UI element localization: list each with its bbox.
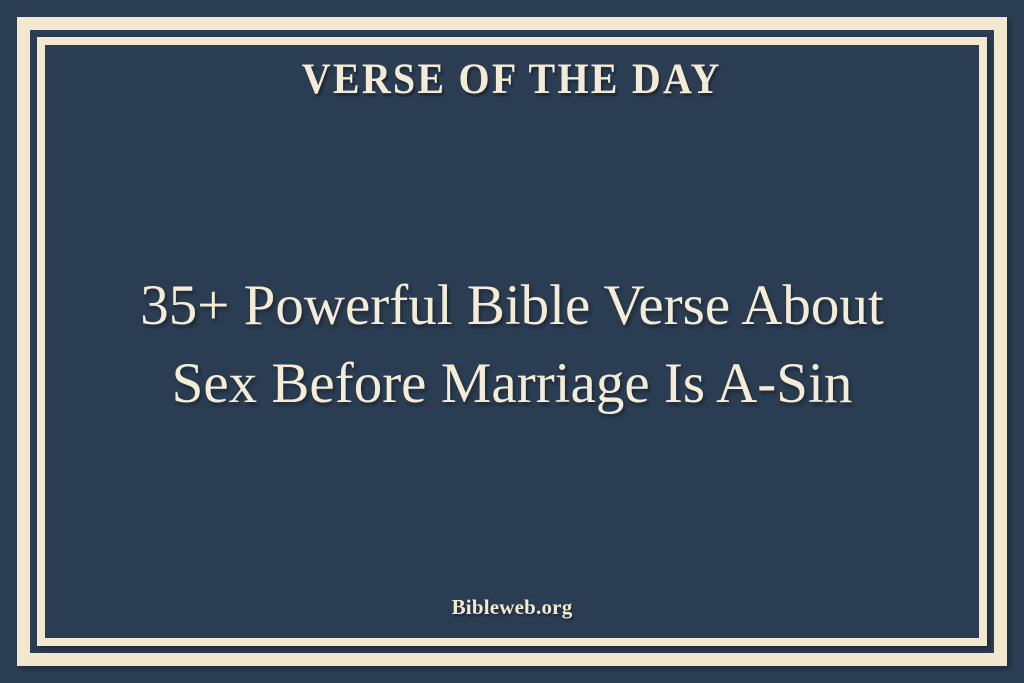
headline-line-1: 35+ Powerful Bible Verse About: [140, 267, 884, 346]
headline: 35+ Powerful Bible Verse About Sex Befor…: [140, 267, 884, 424]
verse-of-the-day-card: VERSE OF THE DAY 35+ Powerful Bible Vers…: [0, 0, 1024, 683]
headline-line-2: Sex Before Marriage Is A-Sin: [140, 345, 884, 424]
card-content: VERSE OF THE DAY 35+ Powerful Bible Vers…: [45, 45, 979, 638]
headline-block: 35+ Powerful Bible Verse About Sex Befor…: [45, 96, 979, 595]
site-attribution: Bibleweb.org: [452, 595, 573, 620]
page-title: VERSE OF THE DAY: [302, 58, 722, 102]
